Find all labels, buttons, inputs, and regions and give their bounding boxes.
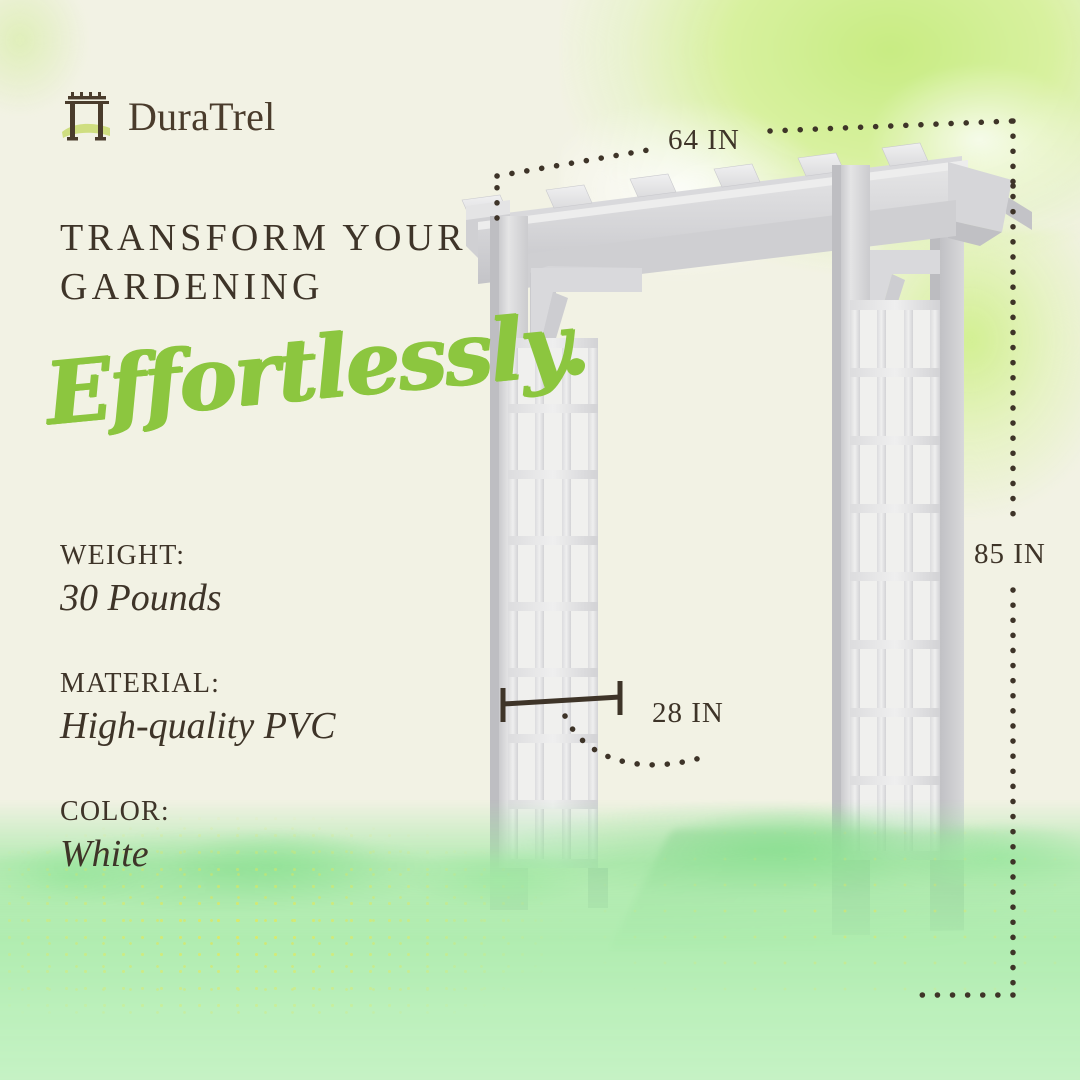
headline-text: TRANSFORM YOUR GARDENING: [60, 214, 490, 311]
depth-measure-bar: [503, 681, 620, 722]
infographic-canvas: DuraTrel TRANSFORM YOUR GARDENING Effort…: [0, 0, 1080, 1080]
dimension-label-width: 64 IN: [668, 124, 740, 157]
spec-list: WEIGHT: 30 Pounds MATERIAL: High-quality…: [60, 540, 490, 923]
dimension-label-depth: 28 IN: [652, 697, 724, 730]
pergola-logo-icon: [60, 88, 114, 144]
spec-label-material: MATERIAL:: [60, 668, 490, 700]
spec-value-material: High-quality PVC: [60, 706, 490, 748]
brand-logo[interactable]: DuraTrel: [60, 88, 276, 144]
spec-label-weight: WEIGHT:: [60, 540, 490, 572]
spec-label-color: COLOR:: [60, 796, 490, 828]
dimension-label-height: 85 IN: [974, 538, 1046, 571]
brand-name: DuraTrel: [128, 93, 276, 140]
spec-item-color: COLOR: White: [60, 796, 490, 876]
spec-value-weight: 30 Pounds: [60, 578, 490, 620]
spec-item-weight: WEIGHT: 30 Pounds: [60, 540, 490, 620]
spec-item-material: MATERIAL: High-quality PVC: [60, 668, 490, 748]
spec-value-color: White: [60, 834, 490, 876]
